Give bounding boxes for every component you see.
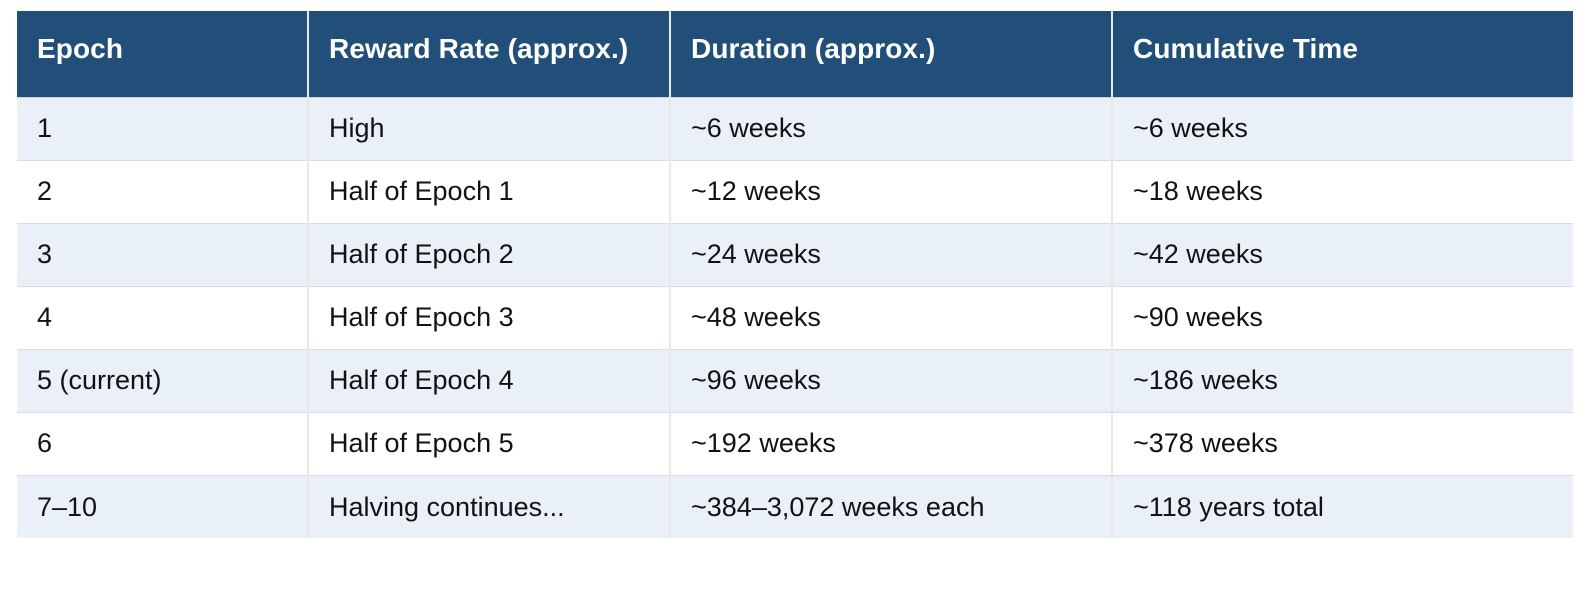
table-row: 6 Half of Epoch 5 ~192 weeks ~378 weeks [17,412,1573,475]
cell-duration: ~12 weeks [670,160,1112,223]
cell-epoch: 5 (current) [17,349,308,412]
cell-cumulative-time: ~18 weeks [1112,160,1573,223]
column-header-cumulative-time: Cumulative Time [1112,11,1573,97]
cell-epoch: 6 [17,412,308,475]
cell-cumulative-time: ~378 weeks [1112,412,1573,475]
column-header-reward-rate: Reward Rate (approx.) [308,11,670,97]
table-row: 1 High ~6 weeks ~6 weeks [17,97,1573,160]
cell-cumulative-time: ~90 weeks [1112,286,1573,349]
cell-duration: ~6 weeks [670,97,1112,160]
cell-reward-rate: Half of Epoch 5 [308,412,670,475]
cell-epoch: 4 [17,286,308,349]
cell-reward-rate: Half of Epoch 2 [308,223,670,286]
cell-epoch: 1 [17,97,308,160]
cell-cumulative-time: ~118 years total [1112,475,1573,538]
cell-cumulative-time: ~186 weeks [1112,349,1573,412]
table-header: Epoch Reward Rate (approx.) Duration (ap… [17,11,1573,97]
cell-duration: ~192 weeks [670,412,1112,475]
epoch-schedule-table: Epoch Reward Rate (approx.) Duration (ap… [17,11,1573,538]
cell-duration: ~96 weeks [670,349,1112,412]
epoch-schedule-table-container: Epoch Reward Rate (approx.) Duration (ap… [17,11,1573,568]
cell-cumulative-time: ~6 weeks [1112,97,1573,160]
cell-duration: ~48 weeks [670,286,1112,349]
cell-duration: ~24 weeks [670,223,1112,286]
table-row: 3 Half of Epoch 2 ~24 weeks ~42 weeks [17,223,1573,286]
cell-duration: ~384–3,072 weeks each [670,475,1112,538]
table-row-current-epoch: 5 (current) Half of Epoch 4 ~96 weeks ~1… [17,349,1573,412]
table-row: 7–10 Halving continues... ~384–3,072 wee… [17,475,1573,538]
cell-epoch: 7–10 [17,475,308,538]
table-row: 4 Half of Epoch 3 ~48 weeks ~90 weeks [17,286,1573,349]
table-row: 2 Half of Epoch 1 ~12 weeks ~18 weeks [17,160,1573,223]
column-header-epoch: Epoch [17,11,308,97]
cell-cumulative-time: ~42 weeks [1112,223,1573,286]
cell-epoch: 2 [17,160,308,223]
table-body: 1 High ~6 weeks ~6 weeks 2 Half of Epoch… [17,97,1573,538]
cell-reward-rate: High [308,97,670,160]
cell-reward-rate: Half of Epoch 4 [308,349,670,412]
table-header-row: Epoch Reward Rate (approx.) Duration (ap… [17,11,1573,97]
cell-reward-rate: Half of Epoch 3 [308,286,670,349]
cell-epoch: 3 [17,223,308,286]
cell-reward-rate: Halving continues... [308,475,670,538]
column-header-duration: Duration (approx.) [670,11,1112,97]
cell-reward-rate: Half of Epoch 1 [308,160,670,223]
